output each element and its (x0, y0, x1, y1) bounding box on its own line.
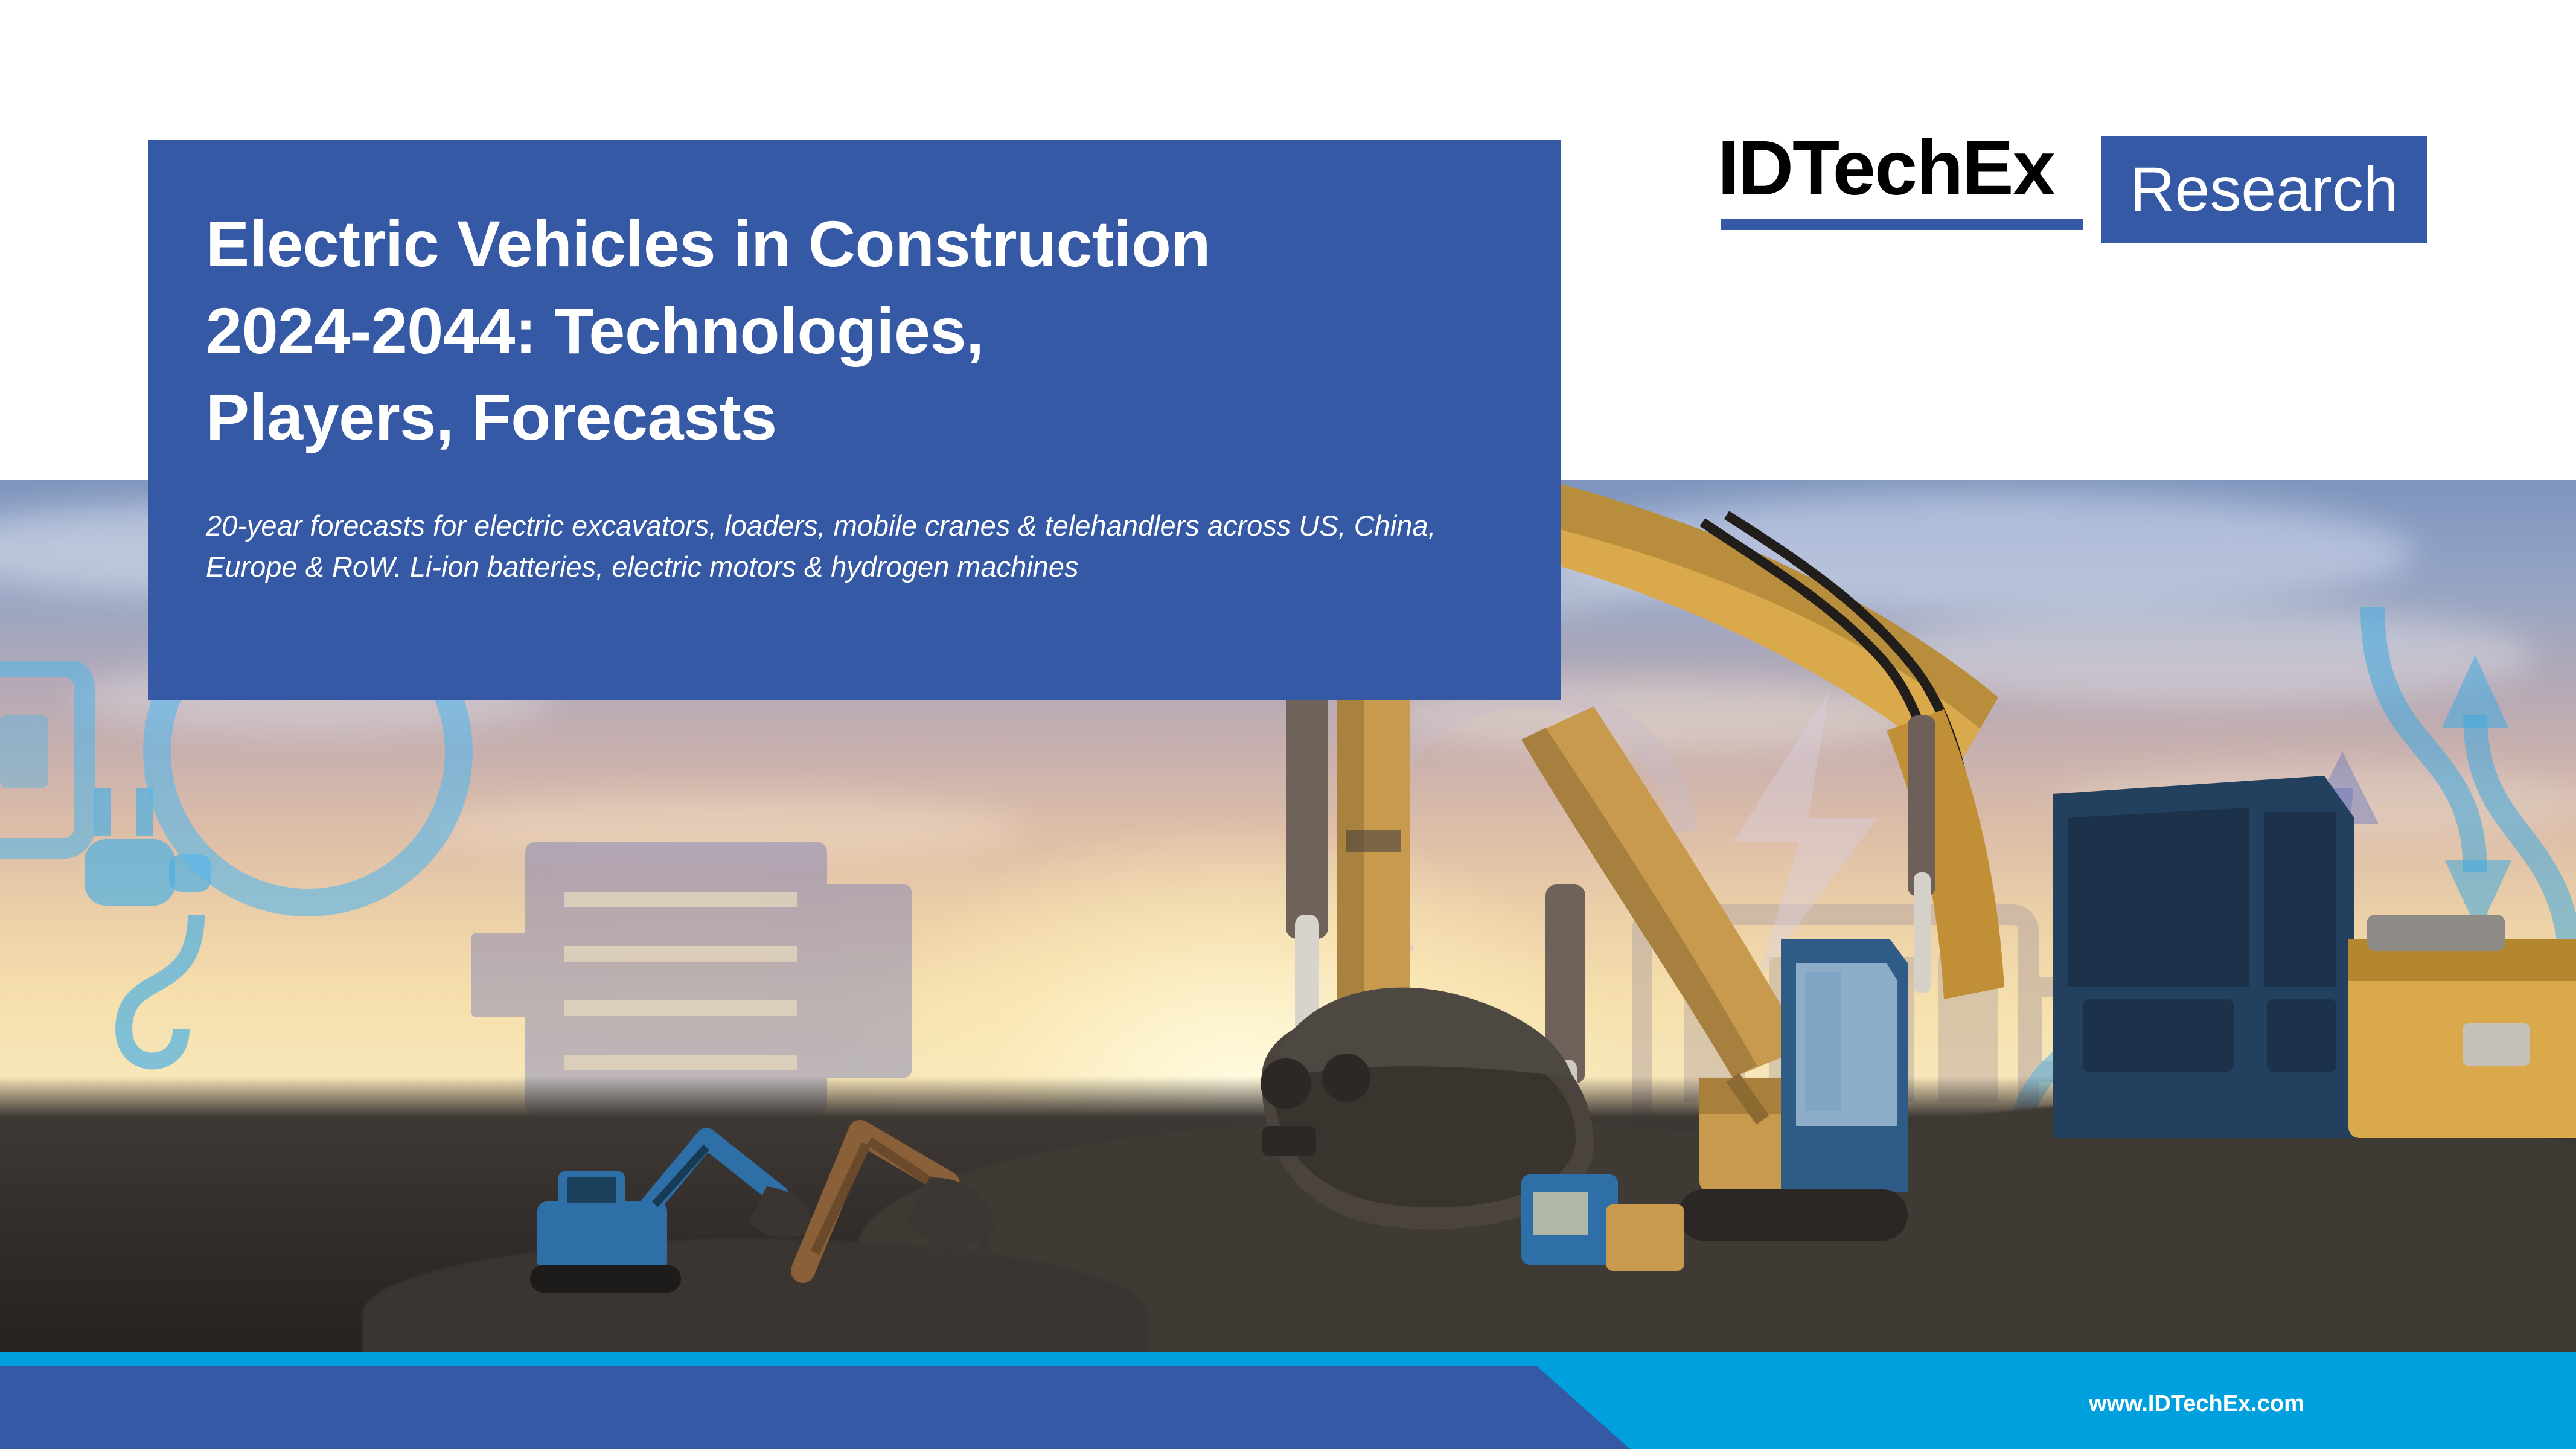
page-title: Electric Vehicles in Construction 2024-2… (206, 200, 1503, 461)
footer-bar: www.IDTechEx.com (0, 1352, 2576, 1449)
charging-station-icon (0, 661, 163, 999)
logo-underline-bar (1721, 219, 2083, 230)
title-card: Electric Vehicles in Construction 2024-2… (148, 140, 1561, 700)
research-badge-label: Research (2129, 158, 2398, 221)
cloud (423, 794, 1026, 860)
excavator-far-left-small (1515, 1102, 1715, 1319)
idtechex-logo[interactable]: IDTechEx Research (1718, 130, 2430, 251)
footer-website-link[interactable]: www.IDTechEx.com (2089, 1391, 2304, 1417)
page-subtitle: 20-year forecasts for electric excavator… (206, 505, 1503, 587)
footer-blue-shape (0, 1366, 1630, 1449)
research-badge: Research (2101, 136, 2427, 243)
excavator-left-mid (749, 1041, 1063, 1319)
logo-wordmark: IDTechEx (1718, 130, 2054, 207)
report-cover-slide: Electric Vehicles in Construction 2024-2… (0, 0, 2576, 1449)
